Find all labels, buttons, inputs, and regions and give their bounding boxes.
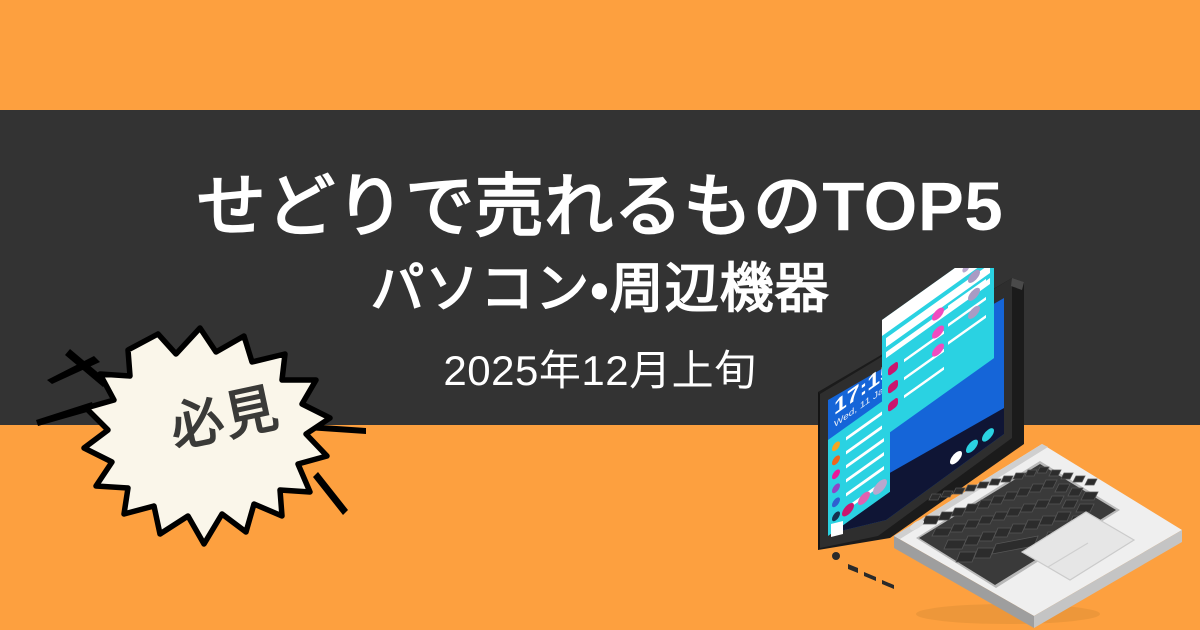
laptop-illustration: 17:15 Wed, 11 January xyxy=(790,268,1200,630)
poster-canvas: 17:15 Wed, 11 January xyxy=(0,0,1200,630)
speed-lines-right xyxy=(307,424,366,515)
